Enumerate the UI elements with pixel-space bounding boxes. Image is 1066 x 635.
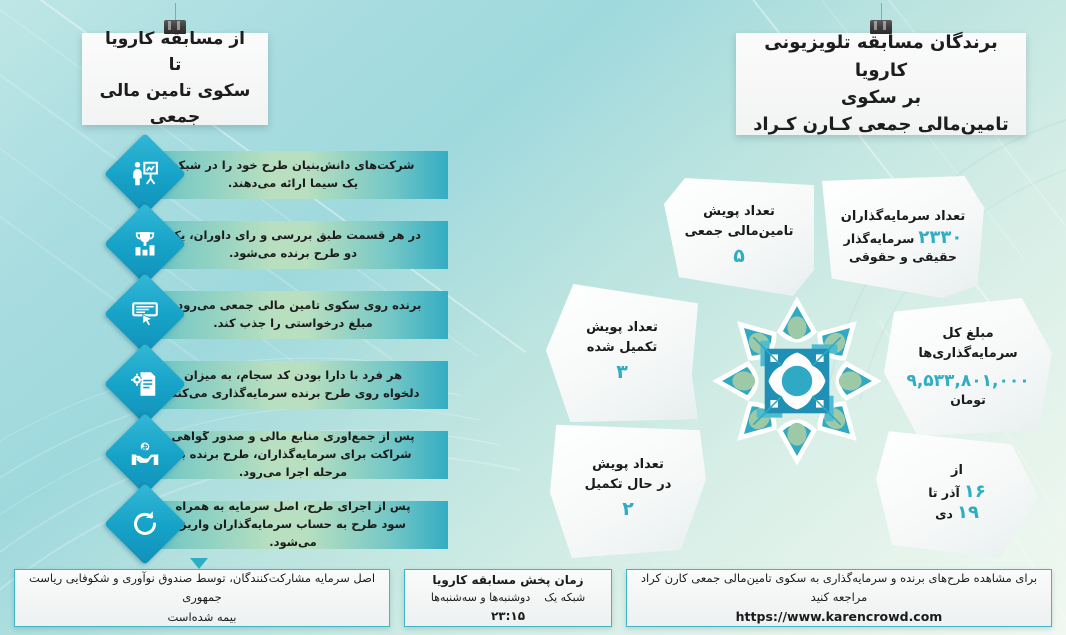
step-icon-badge xyxy=(104,413,186,495)
step-label: در هر قسمت طبق بررسی و رای داوران، یک/دو… xyxy=(164,227,422,263)
stat-label-line2: سرمایه‌گذاری‌ها xyxy=(918,344,1017,364)
step-icon-badge xyxy=(104,273,186,355)
date-from-month: آذر تا xyxy=(928,485,960,500)
footer-insurance-note: اصل سرمایه مشارکت‌کنندگان، توسط صندوق نو… xyxy=(14,569,390,627)
insurance-line2: بیمه شده‌است xyxy=(168,608,237,628)
pointer-triangle-icon xyxy=(190,558,208,569)
insurance-line1: اصل سرمایه مشارکت‌کنندگان، توسط صندوق نو… xyxy=(27,569,377,608)
stat-investors[interactable]: تعداد سرمایه‌گذاران ۲۳۳۰ سرمایه‌گذار حقی… xyxy=(822,176,984,298)
stat-label-line2: تامین‌مالی جمعی xyxy=(685,222,794,242)
stat-label-line1: مبلغ کل xyxy=(942,324,993,344)
stat-value-unit: سرمایه‌گذار xyxy=(844,231,915,246)
stat-value: ۳ xyxy=(616,357,628,387)
right-title-line2: بر سکوی xyxy=(841,84,921,111)
stat-total-amount[interactable]: مبلغ کل سرمایه‌گذاری‌ها ۹,۵۳۳,۸۰۱,۰۰۰ تو… xyxy=(884,298,1052,436)
process-step-list: شرکت‌های دانش‌بنیان طرح خود را در شبکه ی… xyxy=(0,143,460,563)
date-prefix: از xyxy=(951,461,963,481)
process-step[interactable]: شرکت‌های دانش‌بنیان طرح خود را در شبکه ی… xyxy=(0,143,460,213)
broadcast-days: دوشنبه‌ها و سه‌شنبه‌ها xyxy=(431,589,530,606)
infographic-canvas: از مسابقه کارویا تا سکوی تامین مالی جمعی… xyxy=(0,0,1066,635)
step-label: برنده روی سکوی تامین مالی جمعی می‌رود تا… xyxy=(164,297,422,333)
stat-date-range[interactable]: از ۱۶ آذر تا ۱۹ دی xyxy=(876,426,1038,558)
stat-value: ۹,۵۳۳,۸۰۱,۰۰۰ xyxy=(906,371,1029,391)
broadcast-detail-row: شبکه یک دوشنبه‌ها و سه‌شنبه‌ها xyxy=(431,589,585,606)
stat-value: ۲ xyxy=(622,494,634,524)
cursor-click-icon xyxy=(130,299,160,329)
site-cta-text: برای مشاهده طرح‌های برنده و سرمایه‌گذاری… xyxy=(637,569,1041,607)
stat-currency: تومان xyxy=(950,391,986,410)
date-to-day: ۱۹ xyxy=(957,502,979,523)
right-title-line1: برندگان مسابقه تلویزیونی کارویا xyxy=(736,29,1026,84)
broadcast-time: ۲۳:۱۵ xyxy=(491,607,525,625)
left-title-card: از مسابقه کارویا تا سکوی تامین مالی جمعی xyxy=(82,33,268,125)
date-from-row: ۱۶ آذر تا xyxy=(928,481,986,502)
process-step[interactable]: در هر قسمت طبق بررسی و رای داوران، یک/دو… xyxy=(0,213,460,283)
stat-value: ۲۳۳۰ xyxy=(918,227,962,248)
handshake-money-icon xyxy=(130,439,160,469)
statistics-ring: تعداد پویش تامین‌مالی جمعی ۵ تعداد سرمای… xyxy=(536,174,1056,564)
step-label: شرکت‌های دانش‌بنیان طرح خود را در شبکه ی… xyxy=(164,157,422,193)
document-gear-icon xyxy=(130,369,160,399)
step-label: پس از جمع‌آوری منابع مالی و صدور گواهی ش… xyxy=(164,428,422,481)
binder-clip-icon xyxy=(870,20,892,34)
stat-label-line1: تعداد پویش xyxy=(586,318,658,338)
binder-clip-icon xyxy=(164,20,186,34)
step-icon-badge xyxy=(104,133,186,215)
process-step[interactable]: پس از اجرای طرح، اصل سرمایه به همراه سود… xyxy=(0,493,460,563)
broadcast-heading: زمان پخش مسابقه کارویا xyxy=(432,571,583,589)
step-icon-badge xyxy=(104,343,186,425)
step-icon-badge xyxy=(104,483,186,565)
process-step[interactable]: پس از جمع‌آوری منابع مالی و صدور گواهی ش… xyxy=(0,423,460,493)
stat-label-line2: در حال تکمیل xyxy=(585,475,672,495)
left-title-line3: سکوی تامین مالی جمعی xyxy=(82,79,268,131)
right-title-card: برندگان مسابقه تلویزیونی کارویا بر سکوی … xyxy=(736,33,1026,135)
stat-completed-campaigns[interactable]: تعداد پویش تکمیل شده ۳ xyxy=(546,284,698,422)
stat-value: ۵ xyxy=(733,241,745,271)
stat-label-line1: تعداد پویش xyxy=(592,455,664,475)
step-label: پس از اجرای طرح، اصل سرمایه به همراه سود… xyxy=(164,498,422,551)
stat-label: تعداد سرمایه‌گذاران xyxy=(841,207,966,227)
footer-website-cta[interactable]: برای مشاهده طرح‌های برنده و سرمایه‌گذاری… xyxy=(626,569,1052,627)
trophy-icon xyxy=(130,229,160,259)
stat-inprogress-campaigns[interactable]: تعداد پویش در حال تکمیل ۲ xyxy=(550,422,706,558)
persian-star-mandala-icon xyxy=(702,286,892,476)
step-icon-badge xyxy=(104,203,186,285)
site-url[interactable]: https://www.karencrowd.com xyxy=(736,607,943,627)
stat-campaign-count[interactable]: تعداد پویش تامین‌مالی جمعی ۵ xyxy=(664,178,814,296)
date-from-day: ۱۶ xyxy=(964,481,986,502)
refund-arrow-icon xyxy=(130,509,160,539)
stat-value-row: ۲۳۳۰ سرمایه‌گذار xyxy=(844,227,963,248)
presenter-board-icon xyxy=(130,159,160,189)
stat-label-line2: تکمیل شده xyxy=(587,338,658,358)
step-label: هر فرد با دارا بودن کد سجام، به میزان دل… xyxy=(164,367,422,403)
date-to-row: ۱۹ دی xyxy=(935,502,979,523)
stat-label-line1: تعداد پویش xyxy=(703,202,775,222)
broadcast-channel: شبکه یک xyxy=(544,589,585,606)
stat-sublabel: حقیقی و حقوقی xyxy=(849,248,957,267)
date-to-month: دی xyxy=(935,506,953,521)
right-title-line3: تامین‌مالی جمعی کـارن کـراد xyxy=(753,111,1009,138)
left-title-line2: تا xyxy=(169,53,182,79)
process-step[interactable]: برنده روی سکوی تامین مالی جمعی می‌رود تا… xyxy=(0,283,460,353)
footer-broadcast-schedule: زمان پخش مسابقه کارویا شبکه یک دوشنبه‌ها… xyxy=(404,569,612,627)
process-step[interactable]: هر فرد با دارا بودن کد سجام، به میزان دل… xyxy=(0,353,460,423)
